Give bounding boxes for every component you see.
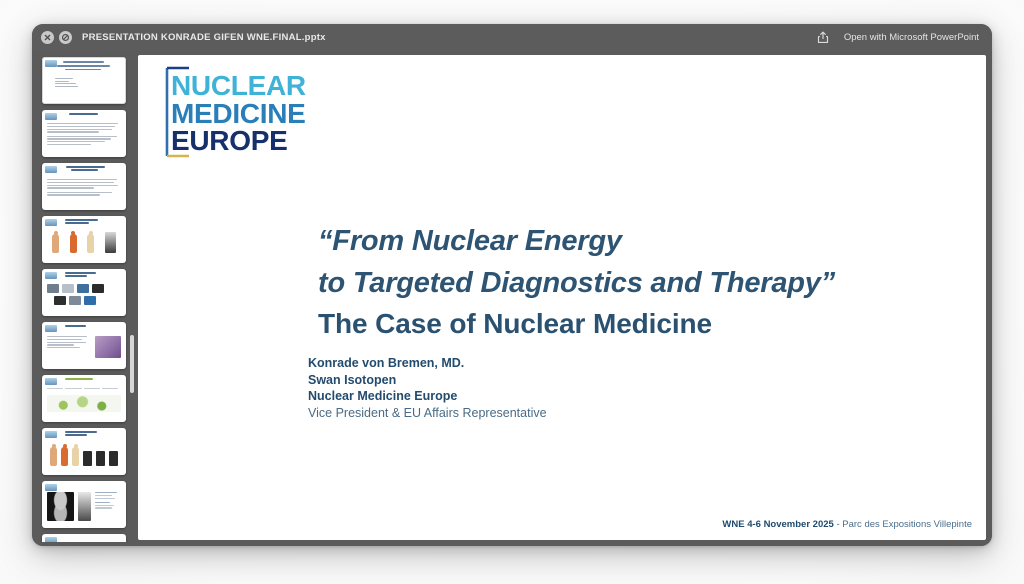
- thumbnail-chart: [47, 388, 121, 418]
- thumbnail-heading: [60, 272, 122, 279]
- thumbnail-heading: [60, 431, 122, 438]
- title-bar: PRESENTATION KONRADE GIFEN WNE.FINAL.ppt…: [32, 24, 992, 51]
- author-company: Swan Isotopen: [308, 372, 547, 389]
- footer-venue: Parc des Expositions Villepinte: [842, 519, 972, 530]
- thumbnail-strip: [36, 57, 136, 542]
- footer-event-name: WNE 4-6 November 2025: [722, 519, 833, 530]
- thumbnail-logo-icon: [45, 431, 57, 438]
- logo-wordmark: NUCLEAR MEDICINE EUROPE: [171, 72, 306, 155]
- chart-graphic: [47, 395, 121, 412]
- thumbnail-text-block: [47, 179, 121, 206]
- image-cell: [84, 296, 96, 305]
- thumbnail-slide-8[interactable]: [42, 428, 126, 475]
- body-figure-icon: [50, 447, 57, 466]
- thumbnail-heading: [60, 113, 122, 120]
- thumbnail-slide-9[interactable]: [42, 481, 126, 528]
- body-figure-icon: [87, 234, 94, 253]
- scan-image: [109, 451, 118, 466]
- slide-title-block: “From Nuclear Energy to Targeted Diagnos…: [318, 220, 958, 345]
- thumbnail-logo-icon: [45, 166, 57, 173]
- thumbnail-slide-1[interactable]: [42, 57, 126, 104]
- thumbnail-heading: [60, 378, 122, 385]
- thumbnail-slide-2[interactable]: [42, 110, 126, 157]
- nuclear-medicine-europe-logo: NUCLEAR MEDICINE EUROPE: [156, 62, 308, 162]
- ct-scan-image: [47, 492, 74, 521]
- image-cell: [77, 284, 89, 293]
- application-window: PRESENTATION KONRADE GIFEN WNE.FINAL.ppt…: [32, 24, 992, 546]
- thumbnail-content: [47, 492, 121, 524]
- thumbnail-logo-icon: [45, 378, 57, 385]
- author-role: Vice President & EU Affairs Representati…: [308, 405, 547, 422]
- thumbnail-logo-icon: [45, 325, 57, 332]
- author-block: Konrade von Bremen, MD. Swan Isotopen Nu…: [308, 355, 547, 421]
- scan-image: [96, 451, 105, 466]
- thumbnail-logo-icon: [45, 272, 57, 279]
- slide-viewport: NUCLEAR MEDICINE EUROPE “From Nuclear En…: [136, 53, 990, 542]
- thumbnail-figure-row: [47, 444, 121, 471]
- microscopy-image: [95, 336, 121, 358]
- slide-title-line-2: to Targeted Diagnostics and Therapy”: [318, 262, 958, 304]
- scan-image: [105, 232, 116, 253]
- body-figure-icon: [72, 447, 79, 466]
- author-organization: Nuclear Medicine Europe: [308, 388, 547, 405]
- thumbnail-logo-icon: [45, 484, 57, 491]
- minimize-circle-icon[interactable]: [59, 31, 72, 44]
- thumbnail-slide-4[interactable]: [42, 216, 126, 263]
- slide-footer: WNE 4-6 November 2025 - Parc des Exposit…: [722, 519, 972, 530]
- thumbnail-subtitle-lines: [55, 78, 100, 88]
- thumbnail-image-grid: [47, 284, 121, 312]
- share-icon[interactable]: [816, 30, 831, 45]
- scan-image: [83, 451, 92, 466]
- thumbnail-text-block: [47, 123, 121, 153]
- body-figure-icon: [52, 234, 59, 253]
- thumbnail-heading: [60, 219, 122, 226]
- open-with-powerpoint-button[interactable]: Open with Microsoft PowerPoint: [840, 30, 983, 45]
- current-slide: NUCLEAR MEDICINE EUROPE “From Nuclear En…: [138, 55, 986, 540]
- thumbnail-title-lines: [55, 61, 113, 73]
- thumbnail-heading: [60, 166, 122, 173]
- thumbnail-figure-row: [47, 232, 121, 259]
- thumbnail-heading: [60, 325, 122, 332]
- slide-title-line-1: “From Nuclear Energy: [318, 220, 958, 262]
- body-scan-image: [78, 492, 91, 521]
- footer-separator: -: [834, 519, 842, 530]
- thumbnail-logo-icon: [45, 219, 57, 226]
- thumbnail-slide-5[interactable]: [42, 269, 126, 316]
- thumbnail-slide-10[interactable]: [42, 534, 126, 542]
- logo-line-medicine: MEDICINE: [171, 100, 306, 128]
- body-figure-icon: [61, 447, 68, 466]
- logo-line-nuclear: NUCLEAR: [171, 72, 306, 100]
- thumbnail-text-block: [47, 336, 91, 365]
- thumbnail-text-block: [95, 492, 121, 510]
- thumbnail-logo-icon: [45, 113, 57, 120]
- title-bar-actions: Open with Microsoft PowerPoint: [816, 30, 983, 45]
- logo-line-europe: EUROPE: [171, 127, 306, 155]
- image-cell: [54, 296, 66, 305]
- thumbnail-sidebar[interactable]: [36, 53, 136, 542]
- thumbnail-slide-6[interactable]: [42, 322, 126, 369]
- window-title: PRESENTATION KONRADE GIFEN WNE.FINAL.ppt…: [82, 32, 326, 43]
- window-body: NUCLEAR MEDICINE EUROPE “From Nuclear En…: [32, 51, 992, 546]
- image-cell: [69, 296, 81, 305]
- thumbnail-content: [47, 336, 121, 365]
- author-name: Konrade von Bremen, MD.: [308, 355, 547, 372]
- thumbnail-logo-icon: [45, 537, 57, 543]
- image-cell: [62, 284, 74, 293]
- image-cell: [47, 284, 59, 293]
- image-cell: [92, 284, 104, 293]
- slide-title-line-3: The Case of Nuclear Medicine: [318, 304, 958, 345]
- sidebar-scrollbar[interactable]: [130, 335, 134, 393]
- thumbnail-slide-7[interactable]: [42, 375, 126, 422]
- body-figure-icon: [70, 234, 77, 253]
- thumbnail-slide-3[interactable]: [42, 163, 126, 210]
- close-circle-icon[interactable]: [41, 31, 54, 44]
